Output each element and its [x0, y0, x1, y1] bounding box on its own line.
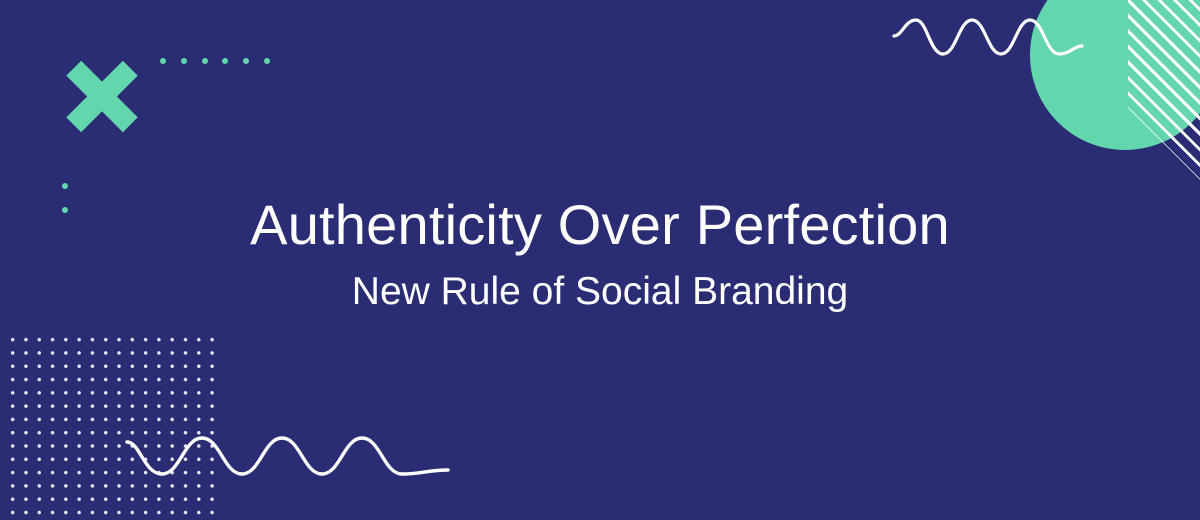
social-banner: Authenticity Over Perfection New Rule of…	[0, 0, 1200, 520]
page-title: Authenticity Over Perfection	[250, 196, 950, 255]
banner-text-block: Authenticity Over Perfection New Rule of…	[0, 0, 1200, 520]
page-subtitle: New Rule of Social Branding	[352, 271, 848, 314]
